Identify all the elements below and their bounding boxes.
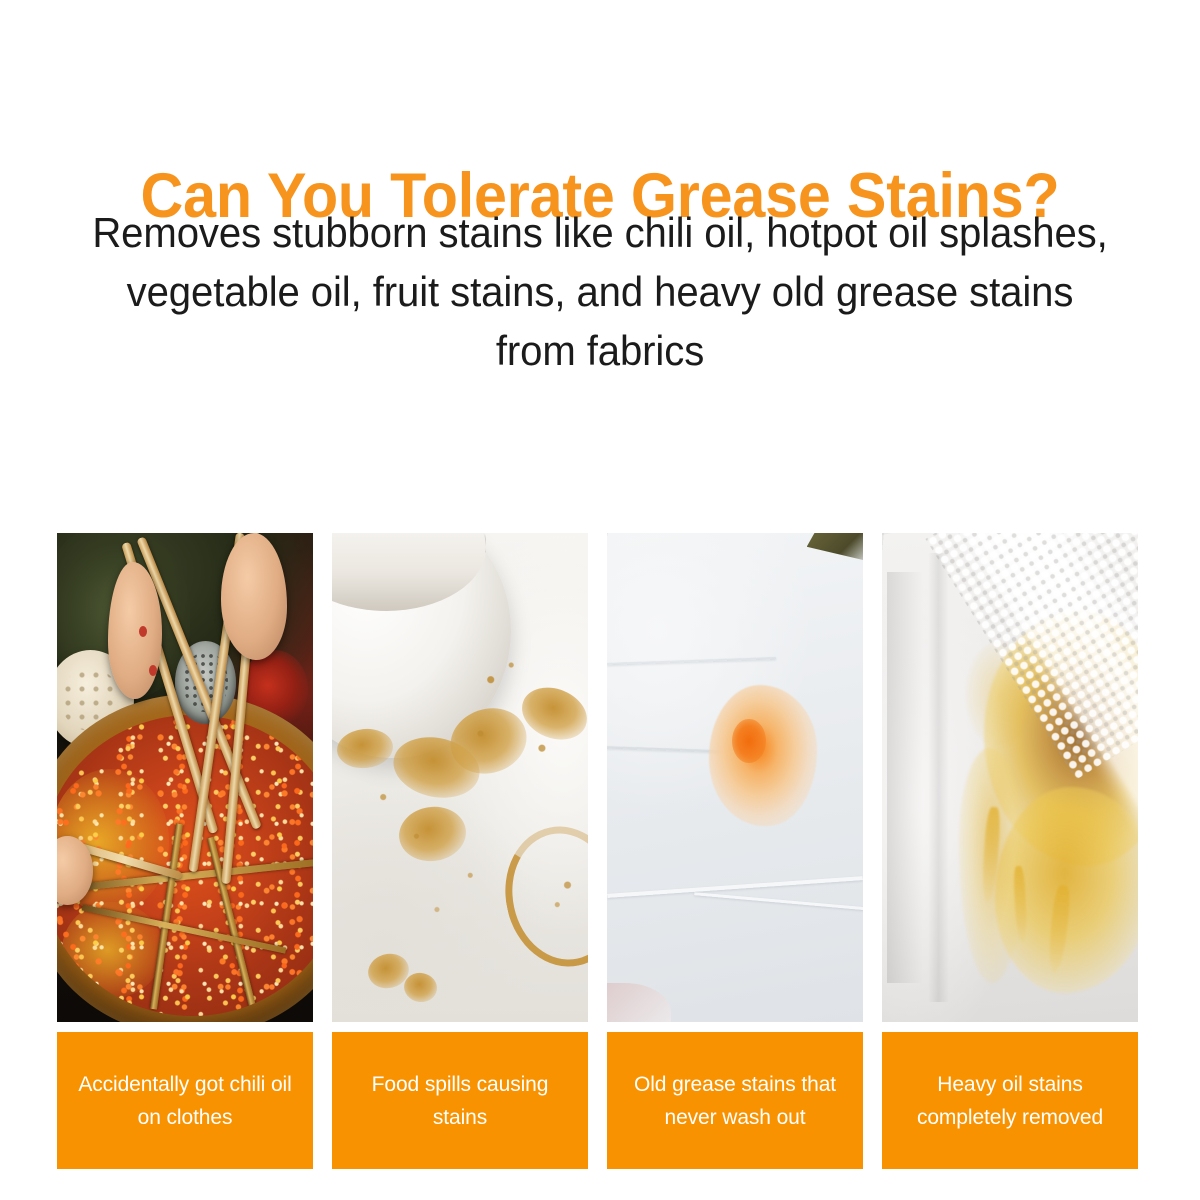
- subtitle-line-2: vegetable oil, fruit stains, and heavy o…: [75, 262, 1126, 321]
- caption-label: Accidentally got chili oil on clothes: [57, 1032, 313, 1169]
- round-grease-stain: [709, 685, 817, 827]
- hotpot-chili-oil-photo: [57, 533, 313, 1022]
- fingernail-shape: [139, 626, 147, 637]
- oil-droplet-spray: [332, 533, 588, 1022]
- subtitle-line-1: Removes stubborn stains like chili oil, …: [75, 203, 1126, 262]
- fabric-fold-shadow: [887, 572, 923, 983]
- page-subtitle: Removes stubborn stains like chili oil, …: [75, 203, 1126, 380]
- grease-stain-core: [732, 719, 765, 763]
- promo-page: Can You Tolerate Grease Stains? Removes …: [0, 0, 1200, 1200]
- stain-examples-gallery: Accidentally got chili oil on clothes Fo…: [57, 533, 1141, 1169]
- fabric-fold-shadow: [928, 553, 948, 1003]
- caption-label: Old grease stains that never wash out: [607, 1032, 863, 1169]
- hotpot-broth-shape: [57, 715, 313, 1016]
- subtitle-line-3: from fabrics: [75, 321, 1126, 380]
- stain-example-card: Heavy oil stains completely removed: [882, 533, 1138, 1169]
- stain-example-card: Food spills causing stains: [332, 533, 588, 1169]
- hand-shape: [108, 562, 162, 699]
- spilled-bowl-stains-photo: [332, 533, 588, 1022]
- caption-label: Heavy oil stains completely removed: [882, 1032, 1138, 1169]
- stain-example-card: Old grease stains that never wash out: [607, 533, 863, 1169]
- old-grease-stain-photo: [607, 533, 863, 1022]
- caption-label: Food spills causing stains: [332, 1032, 588, 1169]
- heavy-oil-stain-garment-photo: [882, 533, 1138, 1022]
- stain-example-card: Accidentally got chili oil on clothes: [57, 533, 313, 1169]
